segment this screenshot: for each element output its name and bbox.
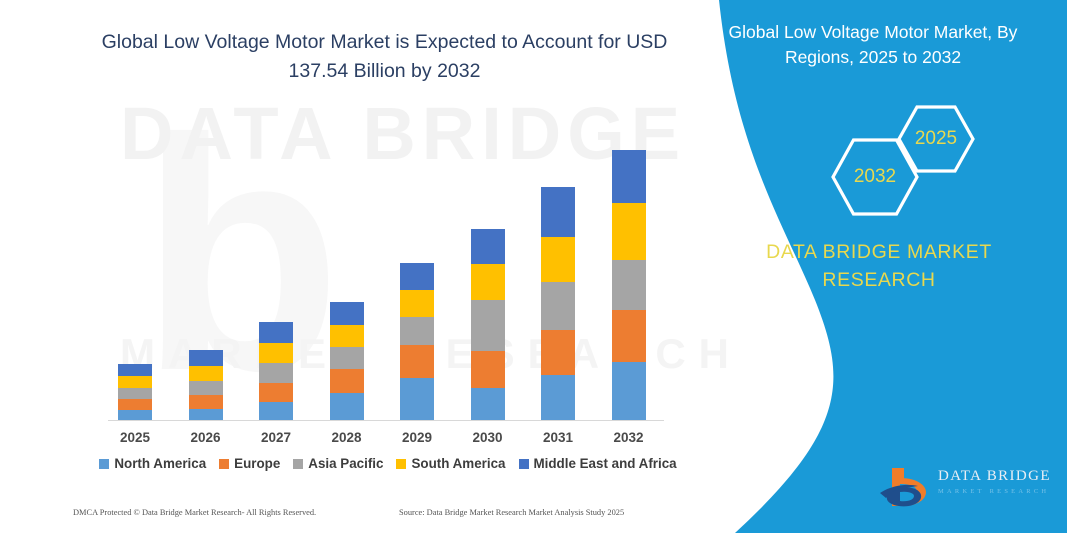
bar-segment-2032-middle-east-and-africa bbox=[612, 150, 646, 203]
legend-label: South America bbox=[411, 456, 505, 471]
x-tick-2025: 2025 bbox=[100, 430, 170, 445]
legend-item-north-america[interactable]: North America bbox=[99, 456, 206, 471]
bar-segment-2025-north-america bbox=[118, 410, 152, 420]
bar-2029 bbox=[400, 263, 434, 420]
bar-2026 bbox=[189, 350, 223, 420]
bar-segment-2025-south-america bbox=[118, 376, 152, 388]
legend-item-europe[interactable]: Europe bbox=[219, 456, 280, 471]
data-bridge-logo: DATA BRIDGE MARKET RESEARCH bbox=[878, 462, 1053, 514]
bar-2028 bbox=[330, 302, 364, 420]
logo-text-primary: DATA BRIDGE bbox=[938, 468, 1051, 485]
bar-segment-2026-south-america bbox=[189, 366, 223, 381]
bar-segment-2027-north-america bbox=[259, 402, 293, 420]
bar-segment-2030-middle-east-and-africa bbox=[471, 229, 505, 264]
bar-segment-2027-south-america bbox=[259, 343, 293, 363]
legend-label: North America bbox=[114, 456, 206, 471]
bar-segment-2032-asia-pacific bbox=[612, 260, 646, 310]
logo-text-secondary: MARKET RESEARCH bbox=[938, 488, 1051, 495]
infographic-canvas: b DATA BRIDGE MARKET RESEARCH Global Low… bbox=[0, 0, 1067, 533]
footer-source: Source: Data Bridge Market Research Mark… bbox=[399, 508, 624, 517]
x-tick-2029: 2029 bbox=[382, 430, 452, 445]
bar-segment-2026-asia-pacific bbox=[189, 381, 223, 395]
x-tick-2026: 2026 bbox=[171, 430, 241, 445]
legend-swatch-icon bbox=[396, 459, 406, 469]
legend-item-asia-pacific[interactable]: Asia Pacific bbox=[293, 456, 383, 471]
bar-segment-2026-north-america bbox=[189, 409, 223, 420]
legend-item-south-america[interactable]: South America bbox=[396, 456, 505, 471]
panel-title: Global Low Voltage Motor Market, By Regi… bbox=[713, 20, 1033, 71]
legend-label: Middle East and Africa bbox=[534, 456, 677, 471]
bar-segment-2032-south-america bbox=[612, 203, 646, 260]
bar-segment-2025-europe bbox=[118, 399, 152, 410]
bar-segment-2031-north-america bbox=[541, 375, 575, 420]
x-tick-2032: 2032 bbox=[594, 430, 664, 445]
x-tick-2028: 2028 bbox=[312, 430, 382, 445]
bar-2027 bbox=[259, 322, 293, 420]
panel-brand-text: DATA BRIDGE MARKET RESEARCH bbox=[729, 238, 1029, 295]
footer-dmca: DMCA Protected © Data Bridge Market Rese… bbox=[73, 508, 316, 517]
bar-segment-2031-middle-east-and-africa bbox=[541, 187, 575, 237]
bar-2031 bbox=[541, 187, 575, 420]
bar-segment-2028-europe bbox=[330, 369, 364, 393]
bar-segment-2026-middle-east-and-africa bbox=[189, 350, 223, 366]
x-tick-2030: 2030 bbox=[453, 430, 523, 445]
chart-legend: North AmericaEuropeAsia PacificSouth Ame… bbox=[98, 456, 678, 471]
legend-item-middle-east-and-africa[interactable]: Middle East and Africa bbox=[519, 456, 677, 471]
bar-segment-2025-asia-pacific bbox=[118, 388, 152, 399]
bar-segment-2028-north-america bbox=[330, 393, 364, 420]
bar-segment-2026-europe bbox=[189, 395, 223, 409]
bar-segment-2032-europe bbox=[612, 310, 646, 362]
bar-segment-2029-asia-pacific bbox=[400, 317, 434, 345]
x-tick-2031: 2031 bbox=[523, 430, 593, 445]
legend-label: Europe bbox=[234, 456, 280, 471]
hexagon-2025: 2025 bbox=[898, 105, 974, 173]
bar-segment-2031-asia-pacific bbox=[541, 282, 575, 330]
legend-swatch-icon bbox=[99, 459, 109, 469]
bar-segment-2030-europe bbox=[471, 351, 505, 388]
bar-segment-2031-south-america bbox=[541, 237, 575, 282]
bar-segment-2027-middle-east-and-africa bbox=[259, 322, 293, 343]
legend-label: Asia Pacific bbox=[308, 456, 383, 471]
bar-segment-2029-south-america bbox=[400, 290, 434, 317]
x-tick-2027: 2027 bbox=[241, 430, 311, 445]
bar-segment-2030-asia-pacific bbox=[471, 300, 505, 351]
logo-mark-icon bbox=[878, 462, 934, 512]
bar-segment-2028-asia-pacific bbox=[330, 347, 364, 369]
legend-swatch-icon bbox=[219, 459, 229, 469]
bar-segment-2028-middle-east-and-africa bbox=[330, 302, 364, 325]
bar-2030 bbox=[471, 229, 505, 420]
bar-segment-2032-north-america bbox=[612, 362, 646, 420]
bar-segment-2027-asia-pacific bbox=[259, 363, 293, 383]
bar-segment-2030-north-america bbox=[471, 388, 505, 420]
bar-segment-2029-middle-east-and-africa bbox=[400, 263, 434, 290]
legend-swatch-icon bbox=[293, 459, 303, 469]
x-axis-line bbox=[108, 420, 664, 421]
bar-2025 bbox=[118, 364, 152, 420]
bar-2032 bbox=[612, 150, 646, 420]
bar-segment-2025-middle-east-and-africa bbox=[118, 364, 152, 376]
stacked-bar-chart: 20252026202720282029203020312032 North A… bbox=[0, 0, 700, 533]
bar-segment-2031-europe bbox=[541, 330, 575, 375]
bar-segment-2027-europe bbox=[259, 383, 293, 402]
bar-segment-2028-south-america bbox=[330, 325, 364, 347]
bar-segment-2029-north-america bbox=[400, 378, 434, 420]
legend-swatch-icon bbox=[519, 459, 529, 469]
hexagon-2025-label: 2025 bbox=[898, 105, 974, 173]
bar-segment-2029-europe bbox=[400, 345, 434, 378]
bar-segment-2030-south-america bbox=[471, 264, 505, 300]
